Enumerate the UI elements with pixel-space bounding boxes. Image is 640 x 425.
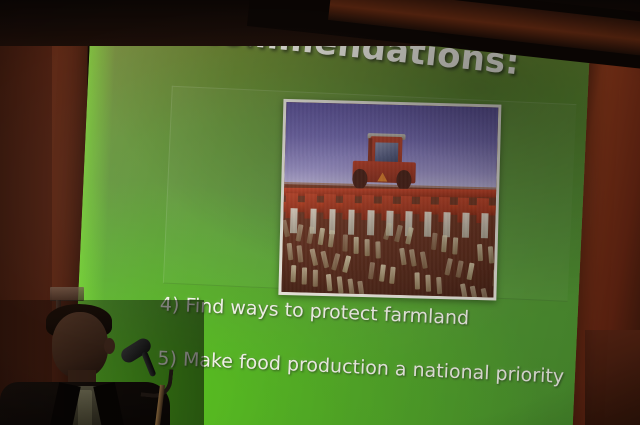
corn-stubble [343, 235, 348, 252]
lower-right-wall [585, 330, 640, 425]
corn-stubble [436, 277, 442, 294]
cultivator-shield [367, 211, 374, 236]
corn-stubble [365, 239, 370, 256]
presentation-scene: Recommendations: [0, 0, 640, 425]
cultivator-shield [481, 214, 488, 239]
slide-bullet-list: 4) Find ways to protect farmland 5) Make… [155, 293, 579, 420]
wall-bracket-icon [50, 287, 84, 301]
presenter-tie [78, 390, 92, 425]
slow-vehicle-sign-icon [378, 173, 388, 182]
corn-stubble [425, 275, 430, 292]
cultivator-shield [348, 210, 355, 235]
slide-image-frame [278, 99, 501, 301]
cultivator-shield [424, 212, 431, 237]
cultivator-shield [462, 213, 469, 238]
presenter [0, 300, 204, 425]
tractor-photo [281, 102, 498, 297]
corn-stubble [313, 270, 318, 287]
corn-stubble [302, 268, 307, 285]
corn-stubble [354, 237, 359, 254]
presenter-head [52, 312, 108, 378]
corn-stubble [375, 241, 380, 258]
corn-stubble [492, 269, 498, 286]
cultivator-shield [443, 213, 450, 238]
presenter-ear [104, 338, 115, 354]
corn-stubble [415, 273, 420, 290]
slide-bullet-item: 5) Make food production a national prior… [157, 347, 578, 388]
